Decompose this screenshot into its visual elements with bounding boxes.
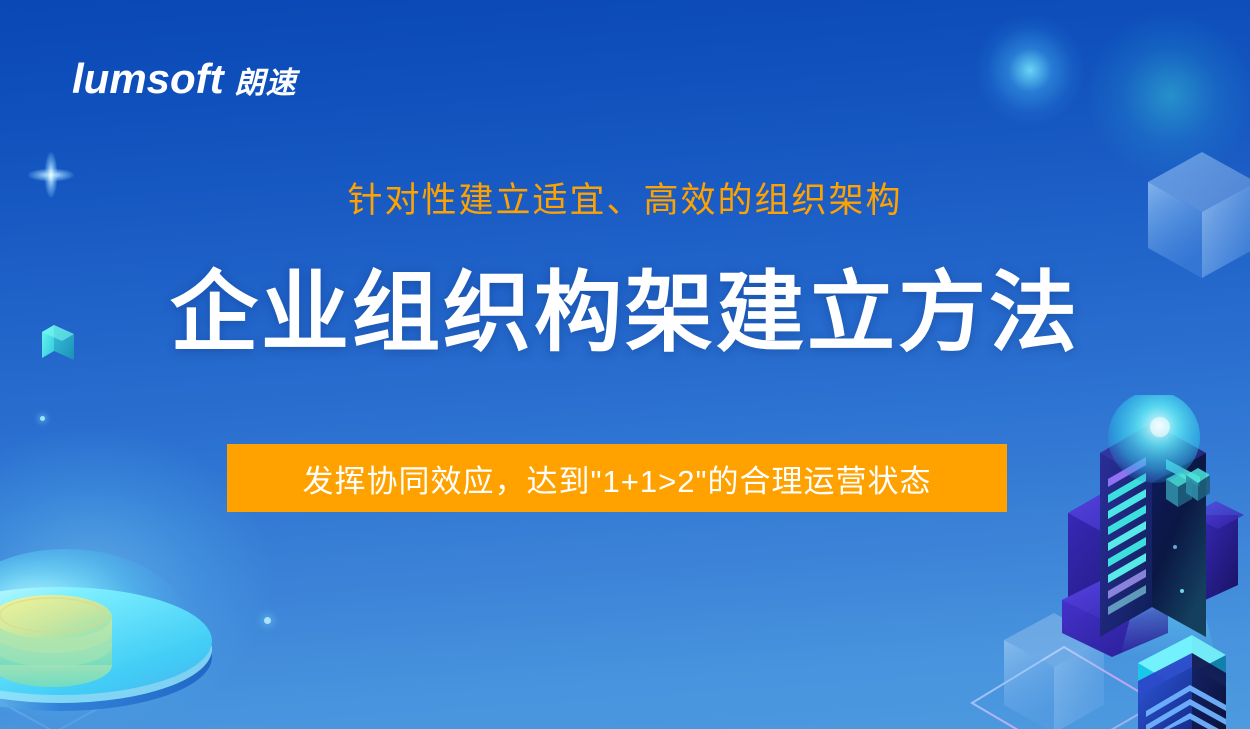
cyan-glow-top-right <box>975 15 1085 125</box>
page-title: 企业组织构架建立方法 <box>0 264 1250 363</box>
cta-text: 发挥协同效应，达到"1+1>2"的合理运营状态 <box>303 456 932 501</box>
glowing-disc-platform-icon <box>0 545 260 729</box>
small-dot-icon <box>40 416 45 421</box>
promo-banner: lumsoft 朗速 针对性建立适宜、高效的组织架构 企业组织构架建立方法 发挥… <box>0 0 1250 729</box>
isometric-glass-cube-icon <box>960 585 1190 729</box>
banner-subtitle: 针对性建立适宜、高效的组织架构 <box>0 172 1250 223</box>
small-dot-icon-2 <box>264 617 271 624</box>
logo-latin-text: lumsoft <box>72 55 224 103</box>
brand-logo: lumsoft 朗速 <box>72 55 297 103</box>
isometric-skyscraper-icon <box>1020 395 1250 729</box>
logo-cjk-text: 朗速 <box>235 58 297 102</box>
teal-glow-top-right-2 <box>1085 10 1250 180</box>
wire-diamond-icon <box>0 600 220 729</box>
cta-highlight-bar: 发挥协同效应，达到"1+1>2"的合理运营状态 <box>227 444 1007 512</box>
